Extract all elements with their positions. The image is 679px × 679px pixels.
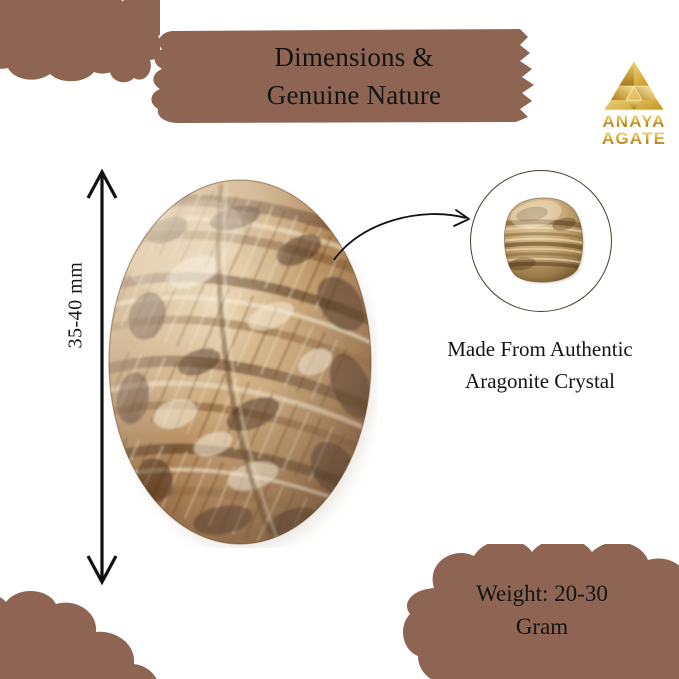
product-caption: Made From Authentic Aragonite Crystal <box>398 334 679 397</box>
banner-title-line-1: Dimensions & <box>274 38 433 76</box>
caption-line-2: Aragonite Crystal <box>398 366 679 398</box>
weight-label: Weight: 20-30 Gram <box>432 578 652 643</box>
banner-title-line-2: Genuine Nature <box>267 76 441 114</box>
anaya-agate-triangle-icon <box>601 58 667 113</box>
aragonite-tumbled-cube <box>492 194 592 292</box>
logo-text-line-1: ANAYA <box>588 113 679 130</box>
detail-inset <box>470 170 614 314</box>
dimension-label: 35-40 mm <box>65 311 88 349</box>
brand-logo: ANAYA AGATE <box>588 58 679 154</box>
curved-callout-arrow <box>330 196 478 278</box>
logo-text-line-2: AGATE <box>588 130 679 147</box>
product-infographic: Dimensions & Genuine Nature <box>0 0 679 679</box>
banner-text-block: Dimensions & Genuine Nature <box>148 27 560 125</box>
caption-line-1: Made From Authentic <box>398 334 679 366</box>
header-banner: Dimensions & Genuine Nature <box>148 27 560 125</box>
weight-line-2: Gram <box>432 611 652 644</box>
cloud-shape-bottom-left <box>0 586 176 679</box>
weight-line-1: Weight: 20-30 <box>432 578 652 611</box>
